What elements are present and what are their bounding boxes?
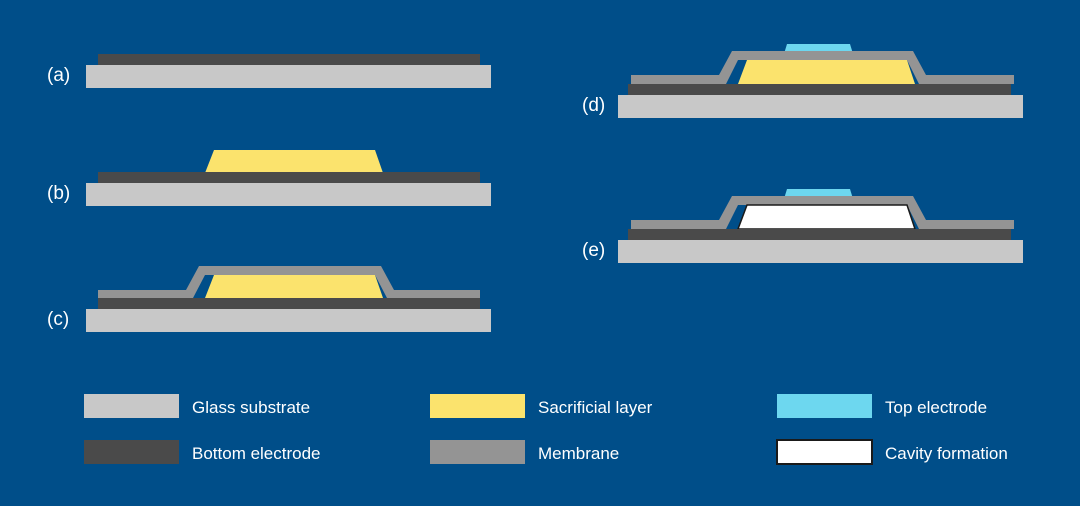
panel-e-cavity-formation bbox=[738, 205, 915, 229]
panel-b-glass-substrate bbox=[86, 183, 491, 206]
legend-item-membrane: Membrane bbox=[430, 440, 619, 464]
panel-d-label: (d) bbox=[582, 95, 605, 116]
legend-label-bottom-electrode: Bottom electrode bbox=[192, 444, 321, 463]
panel-c-glass-substrate bbox=[86, 309, 491, 332]
legend-swatch-sacrificial-layer bbox=[430, 394, 525, 418]
panel-c-label: (c) bbox=[47, 309, 69, 330]
panel-a-label: (a) bbox=[47, 65, 70, 86]
legend-label-top-electrode: Top electrode bbox=[885, 398, 987, 417]
legend-swatch-bottom-electrode bbox=[84, 440, 179, 464]
panel-a-bottom-electrode bbox=[98, 54, 480, 65]
legend-swatch-membrane bbox=[430, 440, 525, 464]
process-flow-diagram: (a) (b) (c) (d) bbox=[0, 0, 1080, 506]
panel-d-glass-substrate bbox=[618, 95, 1023, 118]
legend-item-glass-substrate: Glass substrate bbox=[84, 394, 310, 418]
legend-item-cavity-formation: Cavity formation bbox=[777, 440, 1008, 464]
panel-e-bottom-electrode bbox=[628, 229, 1011, 240]
panel-e-label: (e) bbox=[582, 240, 605, 261]
panel-b-sacrificial-layer bbox=[205, 150, 383, 173]
panel-c-sacrificial-layer bbox=[205, 275, 383, 298]
legend-label-sacrificial-layer: Sacrificial layer bbox=[538, 398, 653, 417]
panel-b-bottom-electrode bbox=[98, 172, 480, 183]
legend-swatch-glass-substrate bbox=[84, 394, 179, 418]
legend-label-cavity-formation: Cavity formation bbox=[885, 444, 1008, 463]
panel-a: (a) bbox=[47, 54, 491, 88]
panel-b-label: (b) bbox=[47, 183, 70, 204]
legend-swatch-top-electrode bbox=[777, 394, 872, 418]
legend-item-sacrificial-layer: Sacrificial layer bbox=[430, 394, 653, 418]
panel-d-sacrificial-layer bbox=[738, 60, 915, 84]
legend-item-bottom-electrode: Bottom electrode bbox=[84, 440, 321, 464]
legend-label-membrane: Membrane bbox=[538, 444, 619, 463]
panel-c-bottom-electrode bbox=[98, 298, 480, 309]
panel-e-glass-substrate bbox=[618, 240, 1023, 263]
legend-label-glass-substrate: Glass substrate bbox=[192, 398, 310, 417]
legend-swatch-cavity-formation bbox=[777, 440, 872, 464]
panel-a-glass-substrate bbox=[86, 65, 491, 88]
panel-d-bottom-electrode bbox=[628, 84, 1011, 95]
